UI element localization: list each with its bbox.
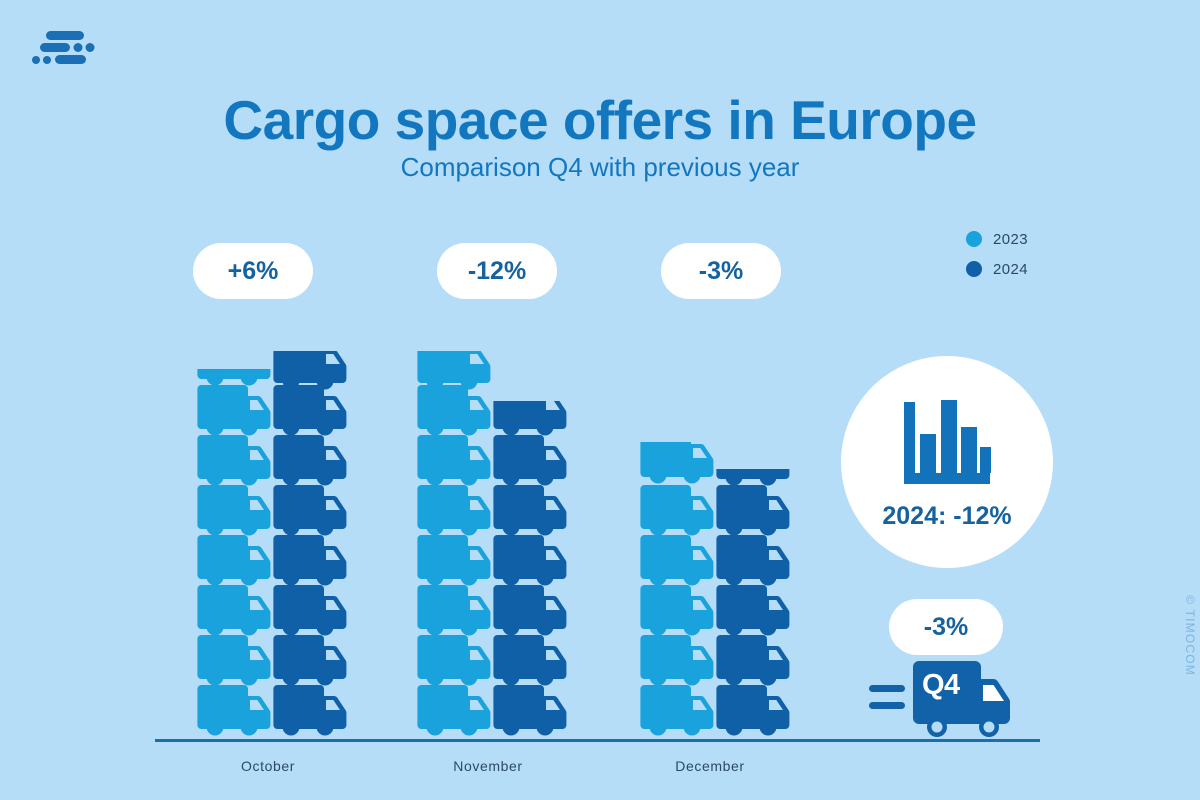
column-october-2024 [273, 351, 347, 739]
truck-stack-october-2023 [197, 369, 271, 739]
change-pill-quarter: -3% [889, 599, 1003, 655]
copyright-text: © TIMOCOM [1183, 595, 1197, 676]
column-october-2023 [197, 369, 271, 739]
equals-icon [869, 683, 905, 713]
quarter-label: Q4 [922, 669, 960, 702]
highlight-badge-text: 2024: -12% [882, 502, 1011, 531]
truck-stack-november-2023 [417, 351, 491, 739]
column-december-2024 [716, 469, 790, 739]
bar-chart-icon [898, 394, 996, 492]
column-december-2023 [640, 442, 714, 739]
truck-stack-october-2024 [273, 351, 347, 739]
column-november-2023 [417, 351, 491, 739]
truck-stack-december-2023 [640, 442, 714, 739]
axis-label-december: December [620, 758, 800, 774]
highlight-badge: 2024: -12% [841, 356, 1053, 568]
axis-label-november: November [398, 758, 578, 774]
column-november-2024 [493, 401, 567, 739]
truck-stack-december-2024 [716, 469, 790, 739]
axis-label-october: October [178, 758, 358, 774]
chart-axis-line [155, 739, 1040, 742]
truck-stack-november-2024 [493, 401, 567, 739]
